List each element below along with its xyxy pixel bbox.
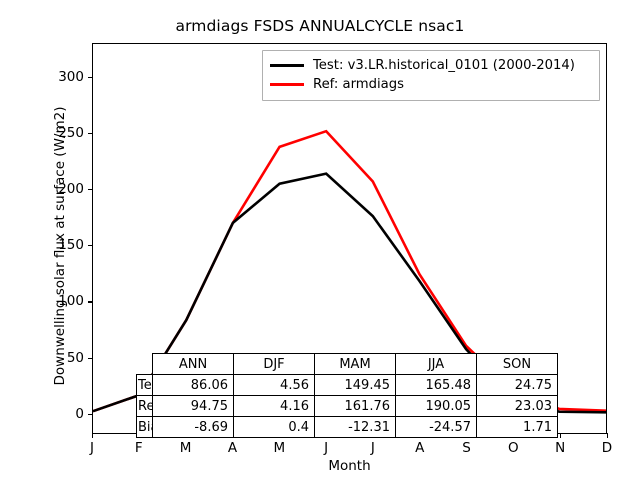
stats-cell-test-son: 24.75	[477, 375, 558, 396]
table-row: Bias -8.69 0.4 -12.31 -24.57 1.71	[137, 417, 558, 438]
legend-swatch-ref	[270, 83, 304, 86]
x-tick-label: J	[72, 440, 112, 456]
x-tick-label: D	[587, 440, 627, 456]
x-tick-label: S	[447, 440, 487, 456]
x-tick-label: N	[540, 440, 580, 456]
legend-label-test: Test: v3.LR.historical_0101 (2000-2014)	[313, 58, 575, 73]
legend-label-ref: Ref: armdiags	[313, 77, 404, 92]
stats-cell-ref-son: 23.03	[477, 396, 558, 417]
figure: armdiags FSDS ANNUALCYCLE nsac1 05010015…	[0, 0, 640, 480]
x-tick-label: A	[400, 440, 440, 456]
stats-col-ann: ANN	[153, 354, 234, 375]
x-tick-label: J	[306, 440, 346, 456]
x-tick-mark	[607, 433, 608, 438]
stats-row-label-bias: Bias	[137, 417, 153, 438]
stats-table: ANN DJF MAM JJA SON Test 86.06 4.56 149.…	[136, 353, 558, 438]
stats-table-header-row: ANN DJF MAM JJA SON	[137, 354, 558, 375]
x-tick-label: M	[166, 440, 206, 456]
stats-cell-ref-jja: 190.05	[396, 396, 477, 417]
table-row: Test 86.06 4.56 149.45 165.48 24.75	[137, 375, 558, 396]
x-tick-label: M	[259, 440, 299, 456]
x-tick-label: A	[212, 440, 252, 456]
x-axis-label: Month	[92, 458, 607, 474]
stats-col-mam: MAM	[315, 354, 396, 375]
stats-cell-bias-djf: 0.4	[234, 417, 315, 438]
stats-cell-test-jja: 165.48	[396, 375, 477, 396]
stats-col-son: SON	[477, 354, 558, 375]
y-axis-label: Downwelling solar flux at surface (W/m2)	[52, 46, 68, 446]
legend-item-test: Test: v3.LR.historical_0101 (2000-2014)	[270, 56, 592, 75]
x-tick-label: J	[353, 440, 393, 456]
chart-title: armdiags FSDS ANNUALCYCLE nsac1	[0, 17, 640, 35]
legend: Test: v3.LR.historical_0101 (2000-2014) …	[262, 50, 600, 101]
stats-cell-bias-jja: -24.57	[396, 417, 477, 438]
stats-cell-ref-mam: 161.76	[315, 396, 396, 417]
table-row: Ref 94.75 4.16 161.76 190.05 23.03	[137, 396, 558, 417]
stats-cell-ref-ann: 94.75	[153, 396, 234, 417]
stats-cell-bias-mam: -12.31	[315, 417, 396, 438]
stats-cell-ref-djf: 4.16	[234, 396, 315, 417]
stats-row-label-ref: Ref	[137, 396, 153, 417]
stats-cell-test-mam: 149.45	[315, 375, 396, 396]
stats-cell-bias-ann: -8.69	[153, 417, 234, 438]
x-tick-label: F	[119, 440, 159, 456]
x-tick-label: O	[493, 440, 533, 456]
stats-cell-test-ann: 86.06	[153, 375, 234, 396]
stats-cell-bias-son: 1.71	[477, 417, 558, 438]
legend-swatch-test	[270, 64, 304, 67]
legend-item-ref: Ref: armdiags	[270, 75, 592, 94]
stats-col-djf: DJF	[234, 354, 315, 375]
stats-table-corner	[137, 354, 153, 375]
stats-row-label-test: Test	[137, 375, 153, 396]
stats-cell-test-djf: 4.56	[234, 375, 315, 396]
stats-col-jja: JJA	[396, 354, 477, 375]
